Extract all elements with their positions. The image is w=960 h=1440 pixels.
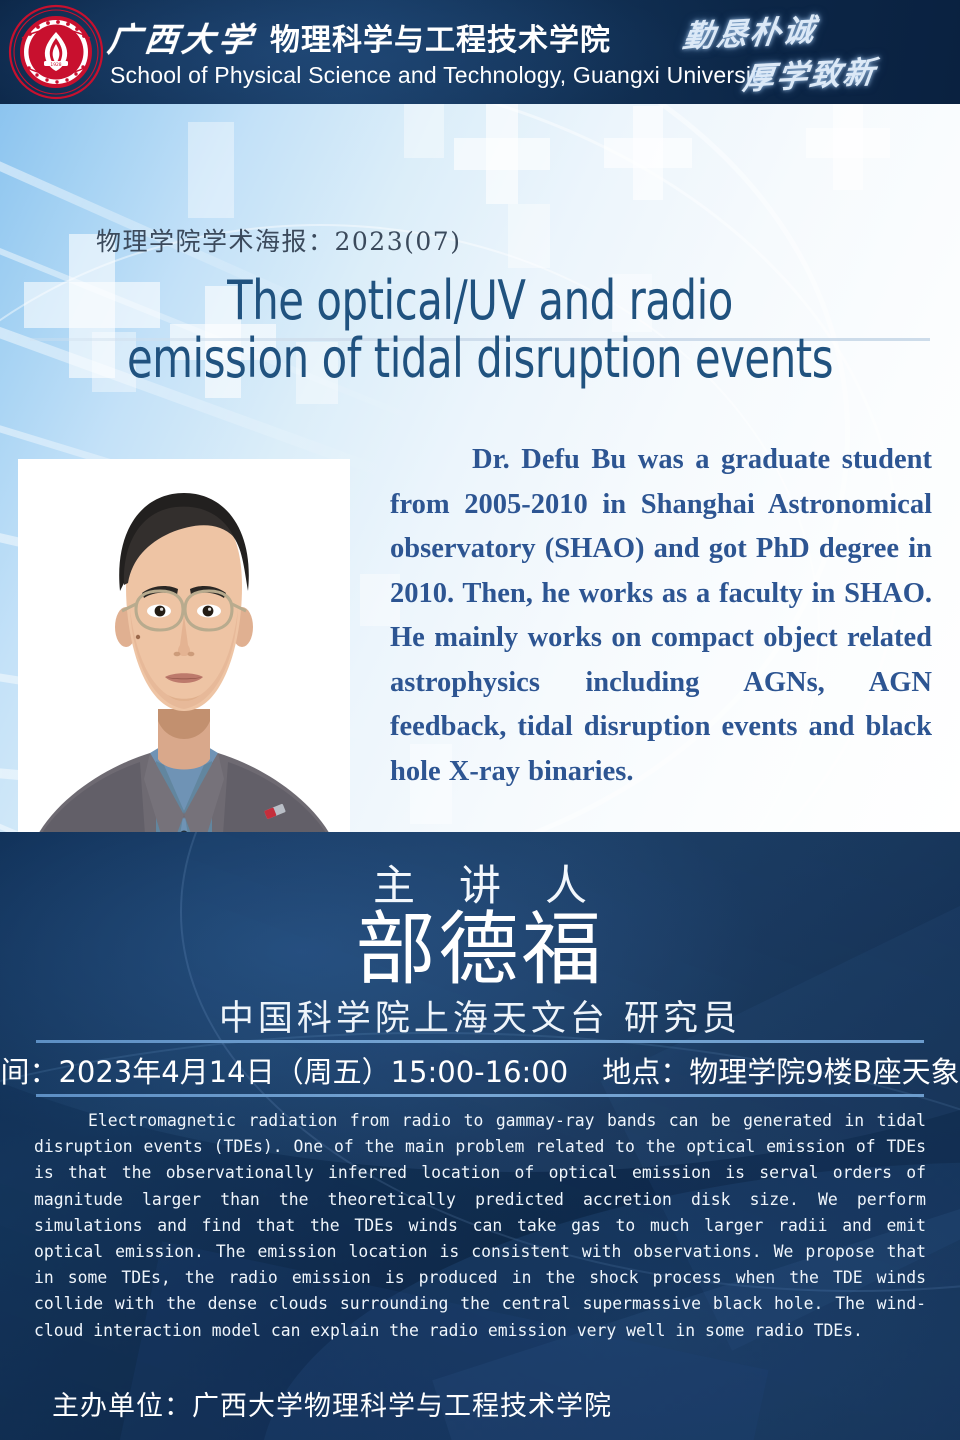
plus-shape-decoration [454, 104, 550, 204]
poster-serial-label: 物理学院学术海报：2023(07) [96, 222, 461, 258]
background-square-decoration [508, 204, 550, 268]
title-line-2: emission of tidal disruption events [67, 330, 893, 388]
university-motto-calligraphy: 勤恳朴诚 厚学致新 [682, 6, 944, 98]
speaker-affiliation: 中国科学院上海天文台 研究员 [0, 990, 960, 1041]
plus-shape-decoration [806, 104, 890, 190]
speaker-name: 部德福 [0, 904, 960, 996]
poster-lower-section: 主讲人 部德福 中国科学院上海天文台 研究员 时间：2023年4月14日（周五）… [0, 832, 960, 1440]
background-square-decoration [404, 104, 444, 158]
page-title: The optical/UV and radio emission of tid… [0, 272, 960, 389]
event-bar-top-rule [36, 1040, 924, 1043]
academic-seminar-poster: 1928 广西大学 物理科学与工程技术学院 School of Physical… [0, 0, 960, 1440]
event-time-location-bar: 时间：2023年4月14日（周五）15:00-16:00 地点：物理学院9楼B座… [0, 1046, 960, 1094]
header-school-chinese: 广西大学 物理科学与工程技术学院 [108, 14, 611, 60]
motto-line-1: 勤恳朴诚 [681, 5, 820, 57]
svg-text:1928: 1928 [50, 62, 61, 68]
event-bar-bottom-rule [36, 1094, 924, 1097]
event-time: 时间：2023年4月14日（周五）15:00-16:00 [0, 1049, 568, 1091]
title-line-1: The optical/UV and radio [67, 272, 893, 330]
poster-header-band: 1928 广西大学 物理科学与工程技术学院 School of Physical… [0, 0, 960, 104]
plus-shape-decoration [604, 106, 692, 200]
poster-upper-section: 物理学院学术海报：2023(07) The optical/UV and rad… [0, 104, 960, 832]
speaker-portrait-photo [18, 459, 350, 832]
talk-abstract-text: Electromagnetic radiation from radio to … [34, 1108, 926, 1344]
school-name-cn: 物理科学与工程技术学院 [270, 15, 611, 59]
event-location: 地点：物理学院9楼B座天象馆 [602, 1049, 960, 1091]
speaker-bio-text: Dr. Defu Bu was a graduate student from … [390, 438, 932, 794]
gxu-circular-seal-icon: 1928 [8, 4, 104, 100]
school-name-en: School of Physical Science and Technolog… [110, 62, 770, 89]
motto-line-2: 厚学致新 [741, 47, 880, 99]
university-name-cn: 广西大学 [105, 13, 258, 61]
host-organization: 主办单位：广西大学物理科学与工程技术学院 [52, 1384, 612, 1423]
background-square-decoration [188, 122, 234, 218]
